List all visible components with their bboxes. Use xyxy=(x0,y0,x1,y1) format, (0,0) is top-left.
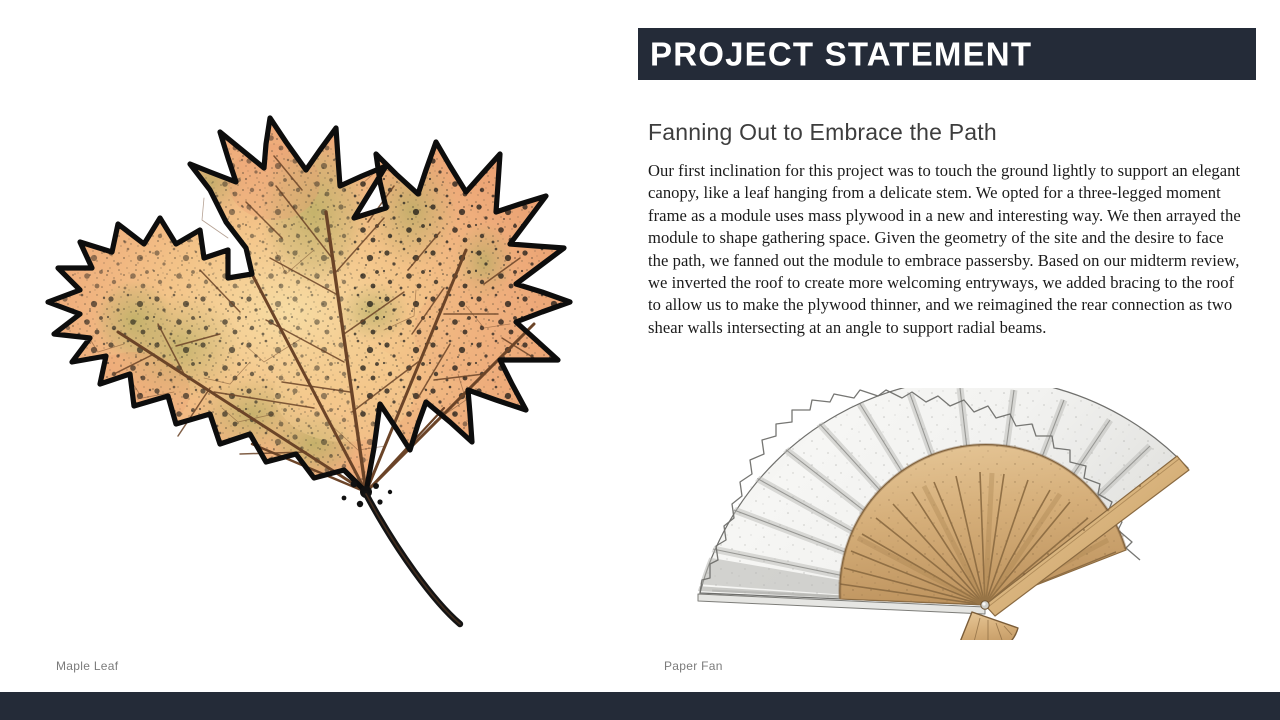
caption-maple-leaf: Maple Leaf xyxy=(56,659,118,673)
maple-leaf-figure xyxy=(14,62,634,634)
footer-bar xyxy=(0,692,1280,720)
section-subtitle: Fanning Out to Embrace the Path xyxy=(648,119,1248,147)
paper-fan-illustration xyxy=(688,388,1200,640)
page-title: PROJECT STATEMENT xyxy=(650,38,1032,71)
paper-fan-figure xyxy=(688,388,1200,640)
slide-canvas: PROJECT STATEMENT Fanning Out to Embrace… xyxy=(0,0,1280,720)
maple-leaf-illustration xyxy=(14,62,634,634)
project-statement-body: Our first inclination for this project w… xyxy=(648,160,1244,339)
header-bar: PROJECT STATEMENT xyxy=(638,28,1256,80)
fan-pivot-rivet xyxy=(981,601,989,609)
leaf-stem xyxy=(366,494,460,624)
caption-paper-fan: Paper Fan xyxy=(664,659,723,673)
fan-handle xyxy=(960,612,1018,640)
